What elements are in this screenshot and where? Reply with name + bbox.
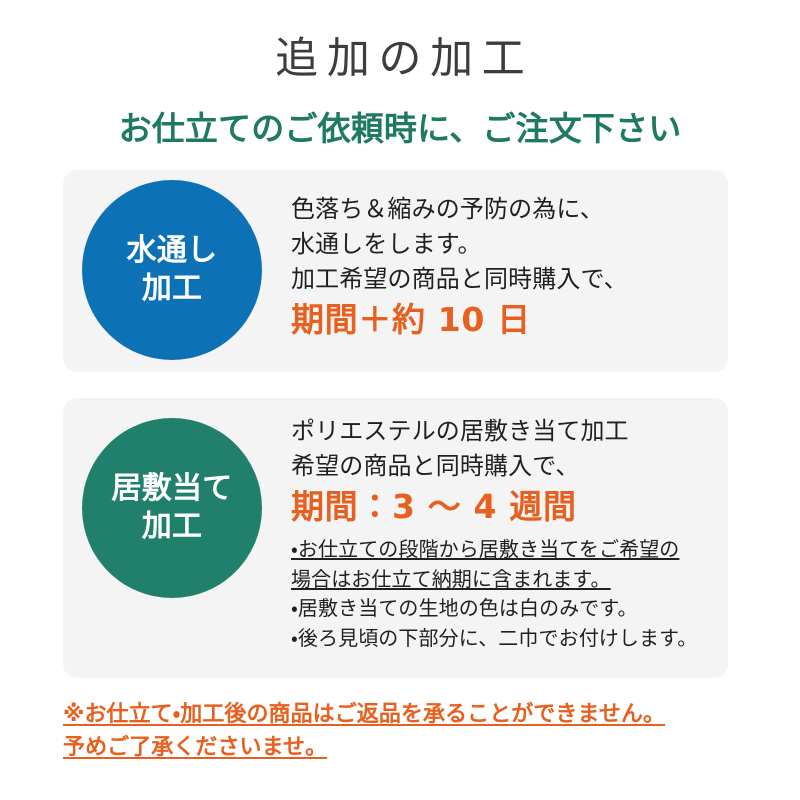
lead-line: 加工希望の商品と同時購入で、 (291, 262, 718, 297)
card-body-mizutooshi: 色落ち＆縮みの予防の為に、 水通しをします。 加工希望の商品と同時購入で、 期間… (291, 192, 718, 344)
lead-line: 色落ち＆縮みの予防の為に、 (291, 192, 718, 227)
note-item: ・後ろ見頃の下部分に、二巾でお付けします。 (291, 624, 718, 654)
card-ishikiate: 居敷当て 加工 ポリエステルの居敷き当て加工 希望の商品と同時購入で、 期間：3… (63, 398, 728, 678)
note-item: ・居敷き当ての生地の色は白のみです。 (291, 594, 718, 624)
badge-label-line1: 居敷当て (111, 470, 232, 508)
badge-mizutooshi: 水通し 加工 (82, 180, 262, 360)
badge-label-line1: 水通し (127, 232, 218, 270)
duration-highlight: 期間＋約 10 日 (291, 297, 718, 344)
note-item: ・お仕立ての段階から居敷き当てをご希望の (291, 535, 718, 565)
lead-line: 水通しをします。 (291, 227, 718, 262)
duration-highlight: 期間：3 ～ 4 週間 (291, 484, 718, 531)
badge-label-line2: 加工 (142, 508, 203, 546)
badge-ishikiate: 居敷当て 加工 (82, 418, 262, 598)
disclaimer-line: ※お仕立て・加工後の商品はご返品を承ることができません。 (63, 698, 763, 731)
lead-line: 希望の商品と同時購入で、 (291, 449, 718, 484)
lead-line: ポリエステルの居敷き当て加工 (291, 414, 718, 449)
page-title: 追加の加工 (0, 36, 800, 83)
card-mizutooshi: 水通し 加工 色落ち＆縮みの予防の為に、 水通しをします。 加工希望の商品と同時… (63, 170, 728, 372)
disclaimer-line: 予めご了承くださいませ。 (63, 731, 763, 764)
note-list: ・お仕立ての段階から居敷き当てをご希望の 場合はお仕立て納期に含まれます。 ・居… (291, 535, 718, 653)
footer-disclaimer: ※お仕立て・加工後の商品はご返品を承ることができません。 予めご了承くださいませ… (63, 698, 763, 765)
promo-page: 追加の加工 お仕立てのご依頼時に、ご注文下さい 水通し 加工 色落ち＆縮みの予防… (0, 0, 800, 800)
card-body-ishikiate: ポリエステルの居敷き当て加工 希望の商品と同時購入で、 期間：3 ～ 4 週間 … (291, 414, 718, 653)
page-subtitle: お仕立てのご依頼時に、ご注文下さい (0, 110, 800, 148)
note-item: 場合はお仕立て納期に含まれます。 (291, 565, 718, 595)
badge-label-line2: 加工 (142, 270, 203, 308)
